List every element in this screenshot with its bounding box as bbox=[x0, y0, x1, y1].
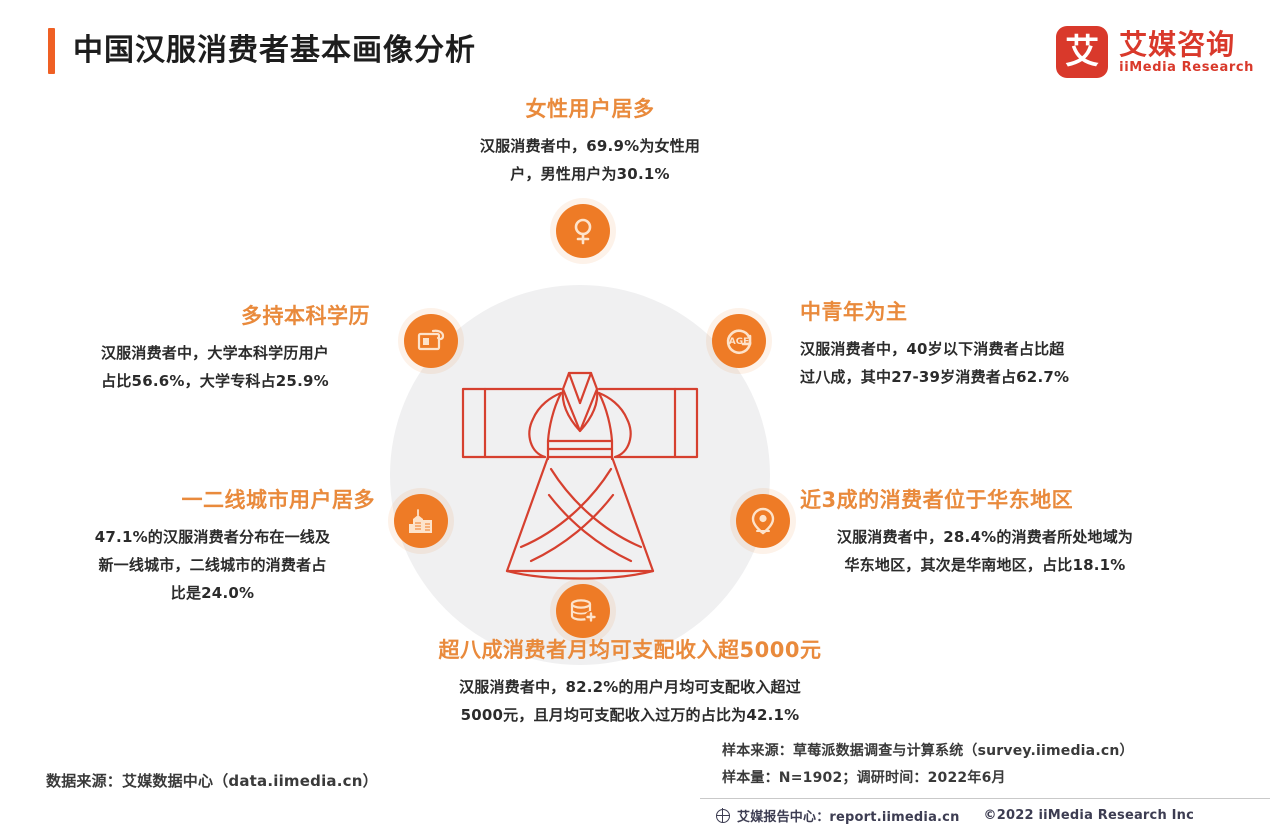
title-accent-bar bbox=[48, 28, 55, 74]
infographic-page: 中国汉服消费者基本画像分析 艾 艾媒咨询 iiMedia Research bbox=[0, 0, 1280, 832]
city-building-icon[interactable] bbox=[394, 494, 448, 548]
stat-block-education: 多持本科学历 汉服消费者中，大学本科学历用户 占比56.6%，大学专科占25.9… bbox=[60, 303, 370, 396]
diploma-icon[interactable] bbox=[404, 314, 458, 368]
hanfu-robe-illustration bbox=[445, 335, 715, 605]
logo-mark-icon: 艾 bbox=[1056, 26, 1108, 78]
stat-body-age: 汉服消费者中，40岁以下消费者占比超 过八成，其中27-39岁消费者占62.7% bbox=[800, 336, 1170, 392]
stat-line: 汉服消费者中，大学本科学历用户 bbox=[101, 344, 329, 362]
page-title: 中国汉服消费者基本画像分析 bbox=[73, 36, 476, 66]
page-header: 中国汉服消费者基本画像分析 艾 艾媒咨询 iiMedia Research bbox=[0, 0, 1280, 96]
stat-block-gender: 女性用户居多 汉服消费者中，69.9%为女性用 户，男性用户为30.1% bbox=[420, 96, 760, 189]
stat-block-city-tier: 一二线城市用户居多 47.1%的汉服消费者分布在一线及 新一线城市，二线城市的消… bbox=[50, 487, 375, 608]
brand-logo: 艾 艾媒咨询 iiMedia Research bbox=[1056, 26, 1254, 78]
female-symbol-icon[interactable] bbox=[556, 204, 610, 258]
footer-bar: 艾媒报告中心：report.iimedia.cn ©2022 iiMedia R… bbox=[716, 806, 1194, 825]
footer-copyright: ©2022 iiMedia Research Inc bbox=[984, 808, 1194, 823]
logo-text-group: 艾媒咨询 iiMedia Research bbox=[1119, 30, 1254, 74]
stat-line: 新一线城市，二线城市的消费者占 bbox=[98, 556, 326, 574]
logo-name-en: iiMedia Research bbox=[1119, 61, 1254, 74]
stat-block-age: 中青年为主 汉服消费者中，40岁以下消费者占比超 过八成，其中27-39岁消费者… bbox=[800, 299, 1170, 392]
stat-heading-age: 中青年为主 bbox=[800, 299, 1170, 326]
stat-line: 户，男性用户为30.1% bbox=[510, 165, 669, 183]
stat-line: 汉服消费者中，82.2%的用户月均可支配收入超过 bbox=[459, 678, 801, 696]
stat-body-education: 汉服消费者中，大学本科学历用户 占比56.6%，大学专科占25.9% bbox=[60, 340, 370, 396]
svg-text:AGE: AGE bbox=[729, 337, 750, 347]
age-refresh-icon[interactable]: AGE bbox=[712, 314, 766, 368]
stat-heading-region: 近3成的消费者位于华东地区 bbox=[800, 487, 1170, 514]
stat-body-region: 汉服消费者中，28.4%的消费者所处地域为 华东地区，其次是华南地区，占比18.… bbox=[800, 524, 1170, 580]
stat-heading-education: 多持本科学历 bbox=[60, 303, 370, 330]
diploma-glyph bbox=[416, 326, 446, 356]
logo-name-cn: 艾媒咨询 bbox=[1119, 30, 1254, 59]
stat-line: 汉服消费者中，40岁以下消费者占比超 bbox=[800, 340, 1064, 358]
location-pin-glyph bbox=[748, 506, 778, 536]
stat-body-city-tier: 47.1%的汉服消费者分布在一线及 新一线城市，二线城市的消费者占 比是24.0… bbox=[50, 524, 375, 607]
stat-heading-city-tier: 一二线城市用户居多 bbox=[50, 487, 375, 514]
stat-block-region: 近3成的消费者位于华东地区 汉服消费者中，28.4%的消费者所处地域为 华东地区… bbox=[800, 487, 1170, 580]
stat-body-gender: 汉服消费者中，69.9%为女性用 户，男性用户为30.1% bbox=[420, 133, 760, 189]
stat-line: 过八成，其中27-39岁消费者占62.7% bbox=[800, 368, 1069, 386]
stat-line: 汉服消费者中，69.9%为女性用 bbox=[480, 137, 700, 155]
location-pin-icon[interactable] bbox=[736, 494, 790, 548]
title-group: 中国汉服消费者基本画像分析 bbox=[48, 28, 476, 74]
stat-heading-gender: 女性用户居多 bbox=[420, 96, 760, 123]
data-source-note: 数据来源：艾媒数据中心（data.iimedia.cn） bbox=[46, 770, 378, 791]
sample-source-line: 样本来源：草莓派数据调查与计算系统（survey.iimedia.cn） bbox=[722, 738, 1262, 765]
globe-icon bbox=[716, 809, 730, 823]
stat-line: 47.1%的汉服消费者分布在一线及 bbox=[95, 528, 330, 546]
logo-mark-char: 艾 bbox=[1065, 35, 1099, 69]
money-stack-plus-glyph bbox=[568, 596, 598, 626]
stat-line: 华东地区，其次是华南地区，占比18.1% bbox=[844, 556, 1125, 574]
footer-report-center[interactable]: 艾媒报告中心：report.iimedia.cn bbox=[737, 806, 960, 825]
stat-line: 占比56.6%，大学专科占25.9% bbox=[101, 372, 329, 390]
city-building-glyph bbox=[406, 506, 436, 536]
female-symbol-glyph bbox=[568, 216, 598, 246]
money-stack-plus-icon[interactable] bbox=[556, 584, 610, 638]
sample-size-line: 样本量：N=1902；调研时间：2022年6月 bbox=[722, 765, 1262, 792]
age-refresh-glyph: AGE bbox=[722, 324, 756, 358]
stat-body-income: 汉服消费者中，82.2%的用户月均可支配收入超过 5000元，且月均可支配收入过… bbox=[380, 674, 880, 730]
footer-divider bbox=[700, 798, 1270, 799]
stat-heading-income: 超八成消费者月均可支配收入超5000元 bbox=[380, 637, 880, 664]
stat-line: 5000元，且月均可支配收入过万的占比为42.1% bbox=[461, 706, 800, 724]
stat-line: 比是24.0% bbox=[171, 584, 254, 602]
sample-note-group: 样本来源：草莓派数据调查与计算系统（survey.iimedia.cn） 样本量… bbox=[722, 738, 1262, 793]
stat-block-income: 超八成消费者月均可支配收入超5000元 汉服消费者中，82.2%的用户月均可支配… bbox=[380, 637, 880, 730]
stat-line: 汉服消费者中，28.4%的消费者所处地域为 bbox=[837, 528, 1133, 546]
